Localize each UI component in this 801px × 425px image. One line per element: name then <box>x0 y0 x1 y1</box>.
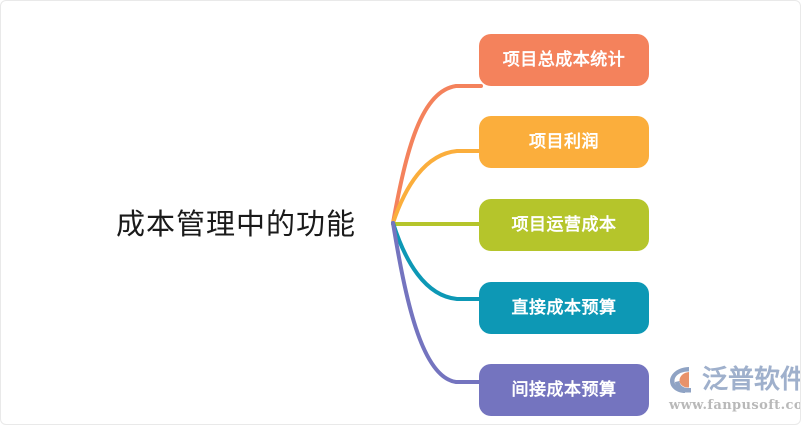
root-node[interactable]: 成本管理中的功能 <box>96 199 376 249</box>
watermark-url: www.fanpusoft.com <box>669 398 801 413</box>
branch-node-project-total-cost-statistics[interactable]: 项目总成本统计 <box>479 34 649 86</box>
watermark: 泛普软件 www.fanpusoft.com <box>667 363 799 419</box>
connector-path-0 <box>393 86 481 223</box>
branch-node-project-operating-cost[interactable]: 项目运营成本 <box>479 199 649 251</box>
mindmap-canvas: 成本管理中的功能 项目总成本统计 项目利润 项目运营成本 直接成本预算 间接成本… <box>0 0 801 425</box>
watermark-logo-row: 泛普软件 <box>667 363 801 397</box>
branch-node-label: 项目总成本统计 <box>503 52 626 69</box>
branch-node-label: 间接成本预算 <box>512 382 617 399</box>
fanpu-logo-icon <box>667 364 699 396</box>
branch-node-label: 项目利润 <box>529 134 599 151</box>
branch-node-label: 项目运营成本 <box>512 217 617 234</box>
connector-path-4 <box>393 223 481 382</box>
branch-node-project-profit[interactable]: 项目利润 <box>479 116 649 168</box>
branch-node-label: 直接成本预算 <box>512 300 617 317</box>
watermark-brand: 泛普软件 <box>702 367 801 393</box>
root-node-label: 成本管理中的功能 <box>116 210 356 239</box>
branch-node-indirect-cost-budget[interactable]: 间接成本预算 <box>479 364 649 416</box>
branch-node-direct-cost-budget[interactable]: 直接成本预算 <box>479 282 649 334</box>
